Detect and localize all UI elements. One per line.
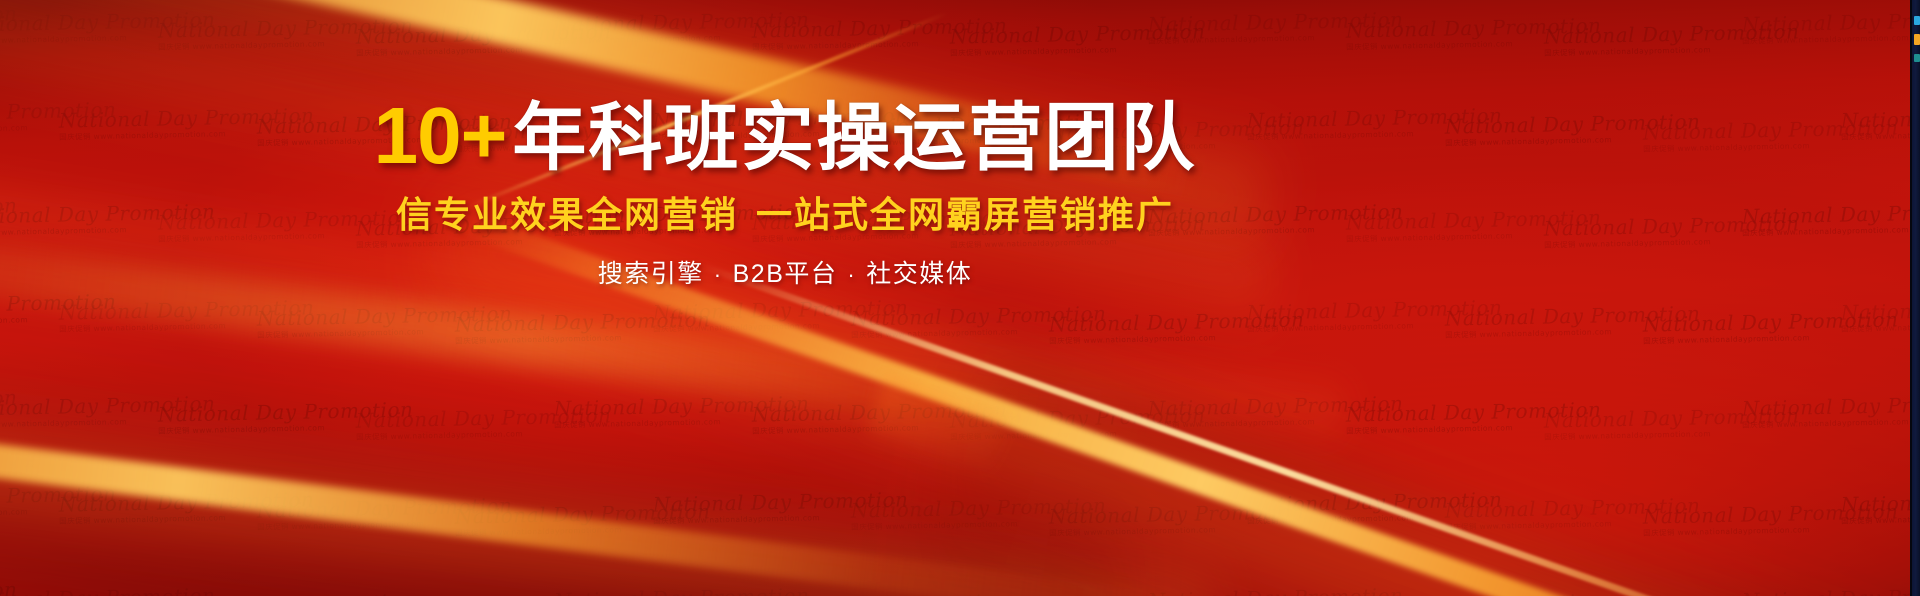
edge-pip-orange-icon[interactable] <box>1914 34 1920 45</box>
watermark-text: National Day Promotion国庆促销 www.nationald… <box>1841 105 1920 142</box>
watermark-title: National Day Promotion <box>1841 297 1920 323</box>
watermark-title: National Day Promotion <box>1841 105 1920 131</box>
subline-right: 一站式全网霸屏营销推广 <box>756 194 1174 235</box>
tagline-item: 社交媒体 <box>866 260 972 288</box>
watermark-layer: National Day Promotion国庆促销 www.nationald… <box>0 0 1920 596</box>
tagline-separator-icon: · <box>714 264 723 286</box>
watermark-title: National Day Promotion <box>1742 585 1920 596</box>
watermark-text: National Day Promotion国庆促销 www.nationald… <box>1742 201 1920 238</box>
watermark-text: National Day Promotion国庆促销 www.nationald… <box>1742 9 1920 46</box>
watermark-text: National Day Promotion国庆促销 www.nationald… <box>1742 585 1920 596</box>
subline-left: 信专业效果全网营销 <box>396 194 738 235</box>
watermark-title: National Day Promotion <box>1841 489 1920 515</box>
tagline-item: B2B平台 <box>733 260 838 288</box>
banner-subline: 信专业效果全网营销一站式全网霸屏营销推广 <box>0 197 1570 233</box>
adjacent-panel-edge-strip <box>1910 0 1920 596</box>
watermark-text: National Day Promotion国庆促销 www.nationald… <box>1841 489 1920 526</box>
headline-text: 年科班实操运营团队 <box>512 96 1196 179</box>
headline-highlight-number: 10+ <box>374 91 507 180</box>
banner-tagline: 搜索引擎·B2B平台·社交媒体 <box>0 262 1570 287</box>
watermark-text: National Day Promotion国庆促销 www.nationald… <box>1742 393 1920 430</box>
banner-headline: 10+年科班实操运营团队 <box>0 96 1570 176</box>
watermark-text: National Day Promotion国庆促销 www.nationald… <box>1841 297 1920 334</box>
tagline-item: 搜索引擎 <box>598 260 704 288</box>
panel-seam <box>1910 0 1912 596</box>
tagline-separator-icon: · <box>847 264 856 286</box>
edge-pip-teal-icon[interactable] <box>1914 54 1920 62</box>
promo-banner: National Day Promotion国庆促销 www.nationald… <box>0 0 1920 596</box>
edge-pip-cyan-icon[interactable] <box>1914 16 1920 25</box>
